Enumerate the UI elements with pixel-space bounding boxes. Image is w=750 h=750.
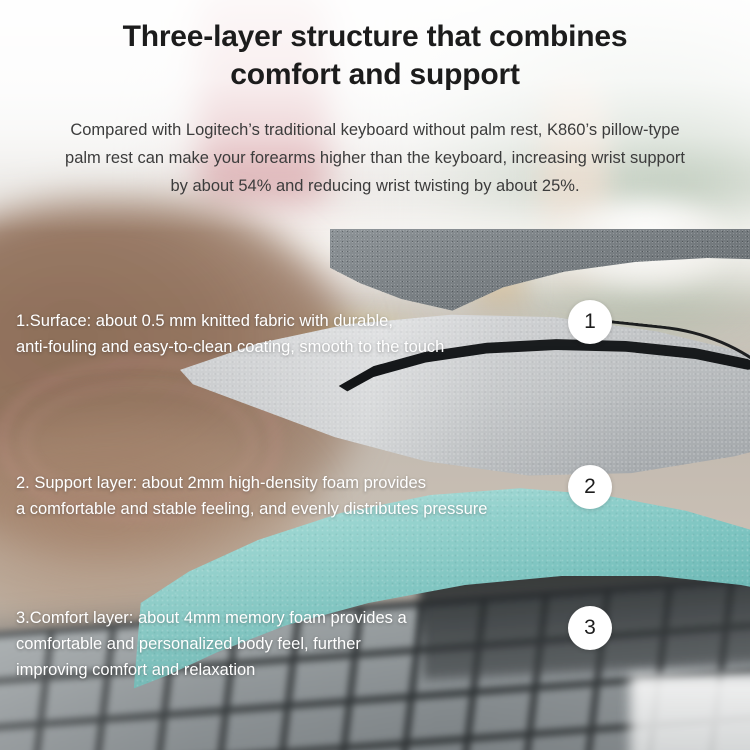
layer-2-badge: 2 <box>568 465 612 509</box>
product-infographic: Three-layer structure that combines comf… <box>0 0 750 750</box>
layer-1-description: 1.Surface: about 0.5 mm knitted fabric w… <box>16 308 444 360</box>
layer-2-description: 2. Support layer: about 2mm high-density… <box>16 470 487 522</box>
layer-3-description: 3.Comfort layer: about 4mm memory foam p… <box>16 605 407 683</box>
header: Three-layer structure that combines comf… <box>0 18 750 200</box>
page-title: Three-layer structure that combines comf… <box>75 18 675 94</box>
page-subtitle: Compared with Logitech’s traditional key… <box>55 116 695 200</box>
layer-1-badge: 1 <box>568 300 612 344</box>
layer-3-badge: 3 <box>568 606 612 650</box>
keyboard-white-highlight <box>630 675 750 750</box>
